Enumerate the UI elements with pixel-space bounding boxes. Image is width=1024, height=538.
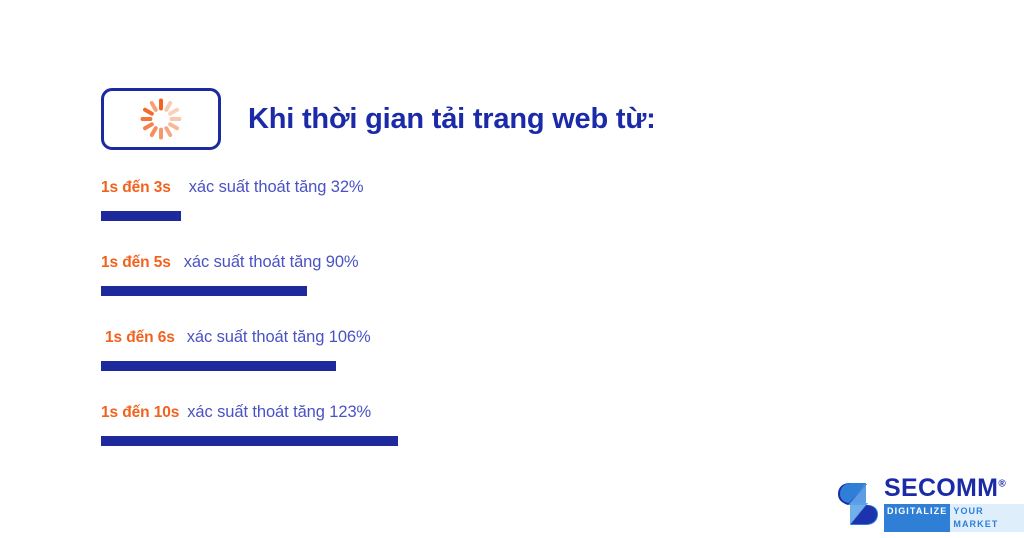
bar-fill bbox=[101, 361, 336, 371]
row-range-label: 1s đến 5s bbox=[101, 254, 171, 272]
list-item: 1s đến 10s xác suất thoát tăng 123% bbox=[101, 403, 961, 478]
loading-spinner-icon bbox=[139, 97, 183, 141]
row-description-label: xác suất thoát tăng 106% bbox=[187, 328, 371, 347]
bar-fill bbox=[101, 436, 398, 446]
row-description-label: xác suất thoát tăng 123% bbox=[187, 403, 371, 422]
list-item: 1s đến 5s xác suất thoát tăng 90% bbox=[101, 253, 961, 328]
secomm-logo-mark-icon bbox=[836, 481, 880, 527]
list-item: 1s đến 6s xác suất thoát tăng 106% bbox=[101, 328, 961, 403]
logo-tagline-first: DIGITALIZE bbox=[884, 504, 950, 532]
bar-track bbox=[101, 436, 961, 446]
row-labels: 1s đến 3s xác suất thoát tăng 32% bbox=[101, 178, 961, 197]
row-labels: 1s đến 6s xác suất thoát tăng 106% bbox=[101, 328, 961, 347]
row-labels: 1s đến 5s xác suất thoát tăng 90% bbox=[101, 253, 961, 272]
row-range-label: 1s đến 3s bbox=[101, 179, 171, 197]
infographic-canvas: Khi thời gian tải trang web từ: 1s đến 3… bbox=[0, 0, 1024, 538]
bar-track bbox=[101, 211, 961, 221]
stats-list: 1s đến 3s xác suất thoát tăng 32% 1s đến… bbox=[101, 178, 961, 478]
row-range-label: 1s đến 10s bbox=[101, 404, 179, 422]
list-item: 1s đến 3s xác suất thoát tăng 32% bbox=[101, 178, 961, 253]
row-description-label: xác suất thoát tăng 32% bbox=[189, 178, 364, 197]
loading-icon-box bbox=[101, 88, 221, 150]
bar-track bbox=[101, 286, 961, 296]
logo-tagline-second: YOUR MARKET bbox=[950, 504, 1024, 532]
logo-wordmark-text: SECOMM bbox=[884, 474, 998, 502]
registered-trademark-icon: ® bbox=[998, 479, 1006, 490]
row-range-label: 1s đến 6s bbox=[105, 329, 175, 347]
row-description-label: xác suất thoát tăng 90% bbox=[184, 253, 359, 272]
logo-tagline: DIGITALIZE YOUR MARKET bbox=[884, 504, 1024, 532]
row-labels: 1s đến 10s xác suất thoát tăng 123% bbox=[101, 403, 961, 422]
header: Khi thời gian tải trang web từ: bbox=[101, 88, 656, 150]
secomm-logo: SECOMM® DIGITALIZE YOUR MARKET bbox=[836, 476, 1024, 532]
bar-track bbox=[101, 361, 961, 371]
logo-wordmark: SECOMM® bbox=[884, 476, 1024, 501]
bar-fill bbox=[101, 211, 181, 221]
logo-text: SECOMM® DIGITALIZE YOUR MARKET bbox=[884, 476, 1024, 532]
bar-fill bbox=[101, 286, 307, 296]
page-title: Khi thời gian tải trang web từ: bbox=[248, 103, 656, 136]
